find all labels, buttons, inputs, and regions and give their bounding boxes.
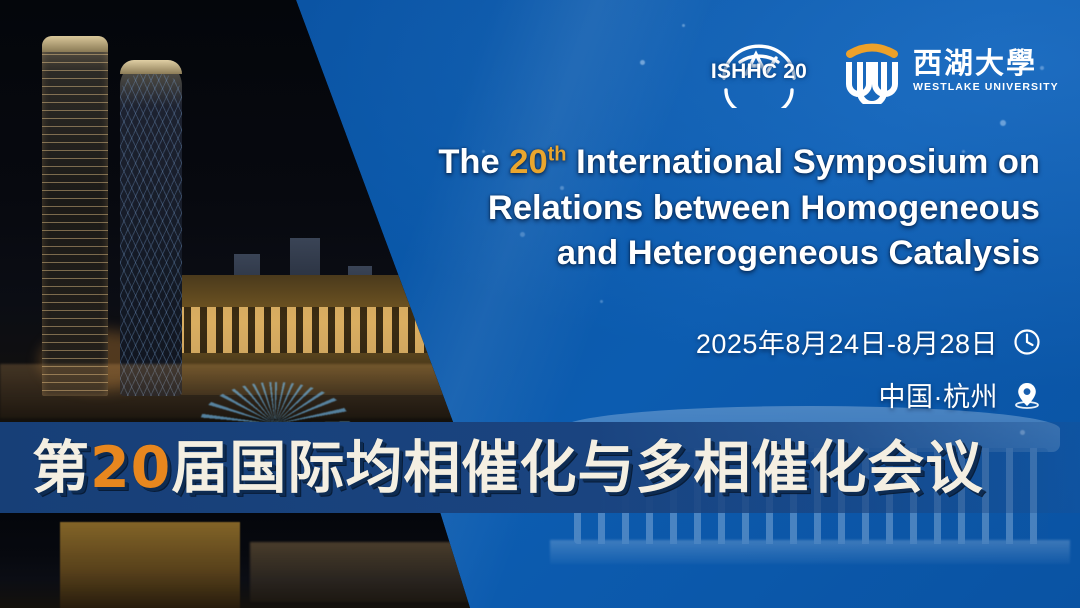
westlake-english-name: WESTLAKE UNIVERSITY — [913, 81, 1059, 93]
chinese-headline: 第20届国际均相催化与多相催化会议 — [32, 428, 983, 508]
title-line-1: The 20th International Symposium on — [370, 140, 1040, 186]
headline-suffix: 届国际均相催化与多相催化会议 — [171, 428, 983, 508]
conference-banner: ISHHC 20 西湖大學 WESTLAKE UNIVERSITY The 20… — [0, 0, 1080, 608]
event-location-row: 中国·杭州 — [696, 375, 1042, 414]
event-meta: 2025年8月24日-8月28日 中国·杭州 — [696, 322, 1042, 414]
title-line-2: Relations between Homogeneous — [370, 186, 1040, 232]
event-date: 2025年8月24日-8月28日 — [696, 322, 998, 361]
westlake-university-logo[interactable]: 西湖大學 WESTLAKE UNIVERSITY — [840, 38, 1059, 104]
ishhc-globe-logo[interactable]: ISHHC 20 — [700, 34, 818, 108]
title-edition-number: 20 — [509, 143, 547, 181]
headline-edition-number: 20 — [90, 428, 171, 508]
map-pin-icon — [1012, 380, 1042, 410]
hangzhou-night-photo-lower — [0, 512, 470, 608]
symposium-title: The 20th International Symposium on Rela… — [370, 140, 1040, 277]
title-ordinal-suffix: th — [548, 144, 567, 166]
westlake-chinese-name: 西湖大學 — [913, 49, 1059, 79]
headline-prefix: 第 — [32, 428, 90, 508]
title-line-3: and Heterogeneous Catalysis — [370, 231, 1040, 277]
title-line1-prefix: The — [438, 143, 509, 181]
logo-group: ISHHC 20 西湖大學 WESTLAKE UNIVERSITY — [700, 34, 1059, 108]
westlake-w-mark-icon — [840, 38, 904, 104]
event-location: 中国·杭州 — [879, 375, 999, 414]
ishhc-logo-text: ISHHC 20 — [700, 60, 818, 84]
event-date-row: 2025年8月24日-8月28日 — [696, 322, 1042, 361]
title-line1-suffix: International Symposium on — [567, 143, 1040, 181]
clock-icon — [1012, 327, 1042, 357]
